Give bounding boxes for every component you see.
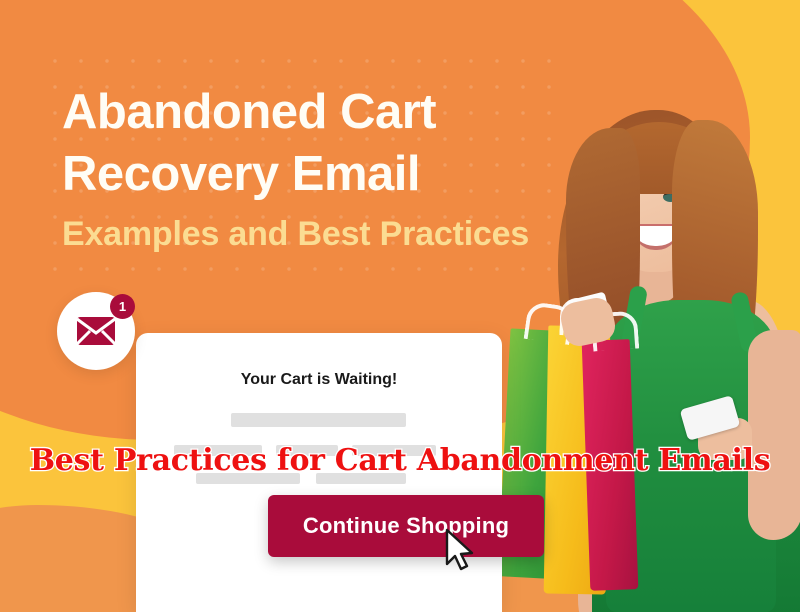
placeholder-line-5 (196, 473, 300, 484)
placeholder-line-2 (174, 445, 262, 456)
email-preview-card: Your Cart is Waiting! (136, 333, 502, 612)
placeholder-line-4 (352, 445, 436, 456)
placeholder-line-3 (276, 445, 338, 456)
unread-count-badge: 1 (110, 294, 135, 319)
arm-right (748, 330, 800, 540)
placeholder-line-6 (316, 473, 406, 484)
shopper-photo (500, 0, 800, 612)
email-card-heading: Your Cart is Waiting! (136, 371, 502, 389)
placeholder-line-1 (231, 413, 406, 427)
banner-canvas: Abandoned Cart Recovery Email Examples a… (0, 0, 800, 612)
continue-shopping-button[interactable]: Continue Shopping (268, 495, 544, 557)
shopping-bag-red (582, 339, 639, 591)
envelope-icon (76, 316, 116, 346)
